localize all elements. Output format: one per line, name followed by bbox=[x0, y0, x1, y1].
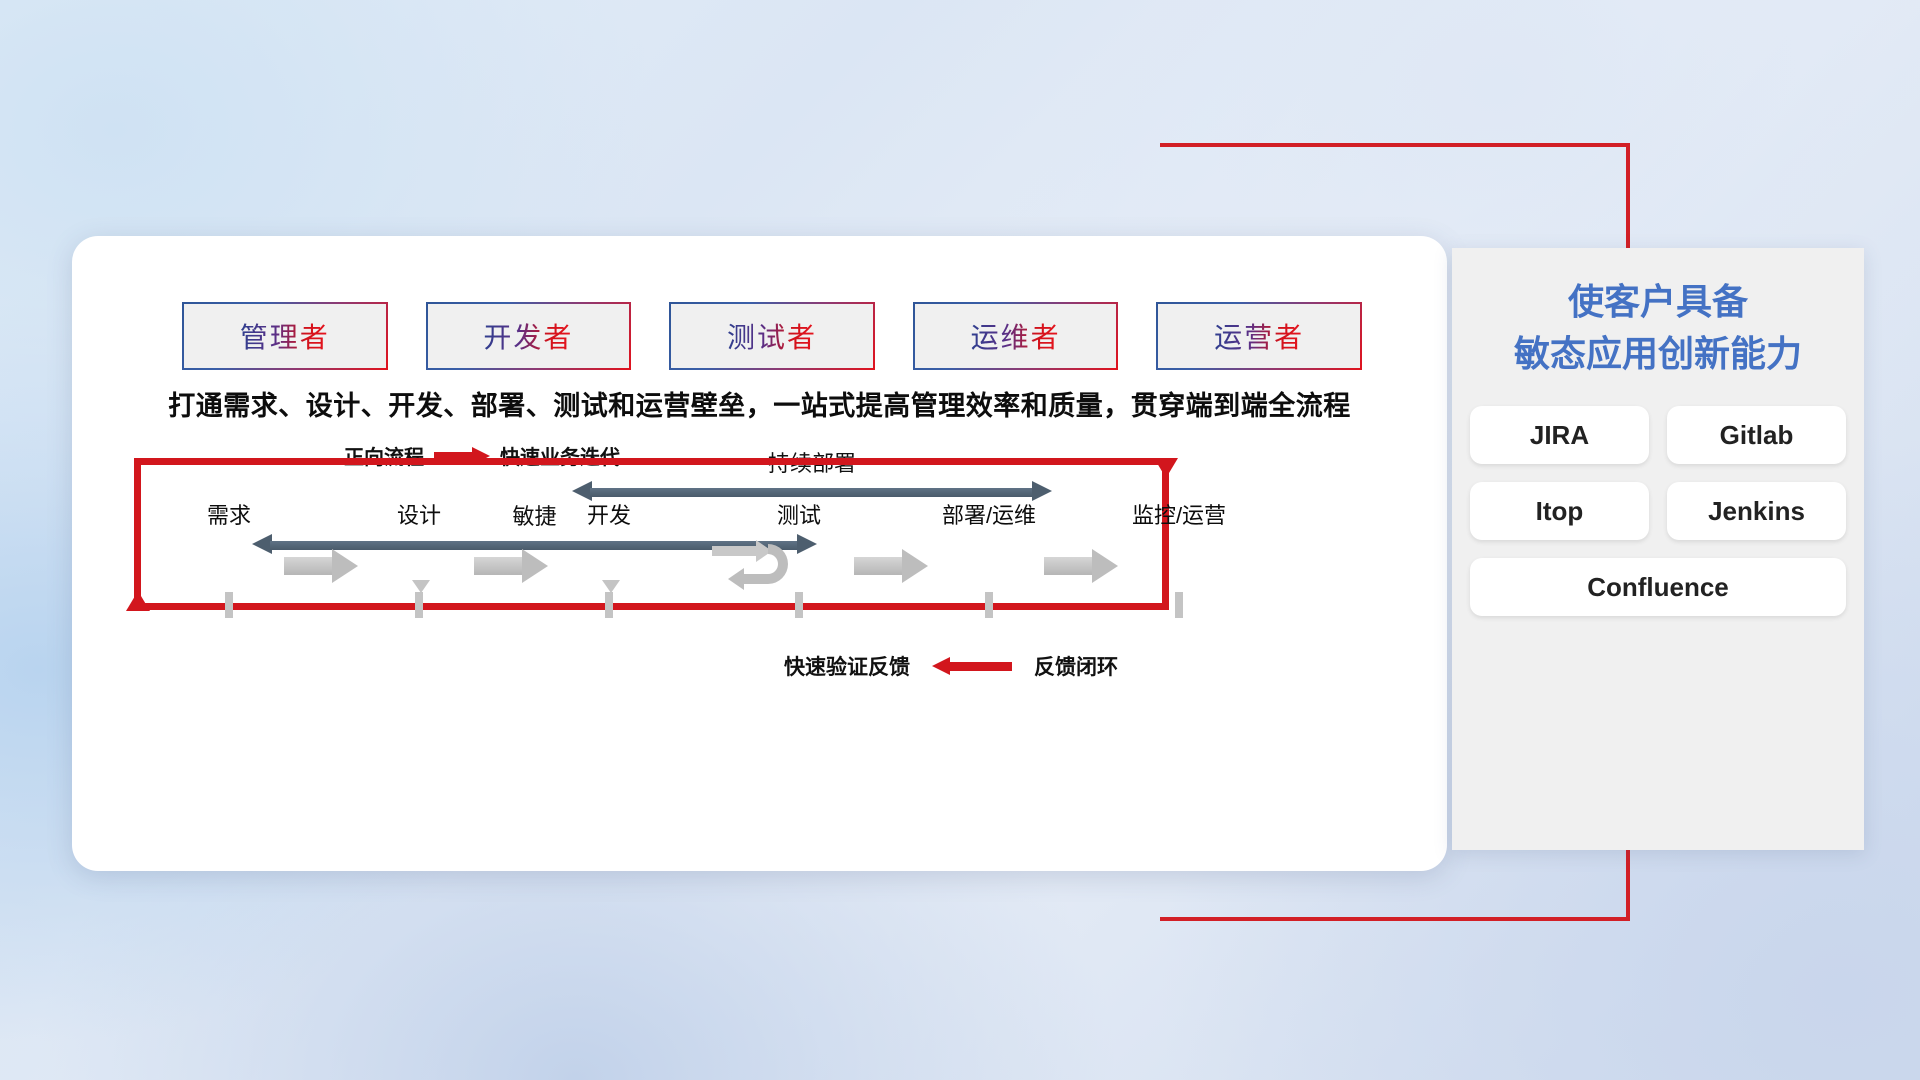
arrow-body bbox=[284, 557, 334, 575]
arrow-head bbox=[902, 549, 928, 583]
role-box-ops[interactable]: 运维者 bbox=[913, 302, 1119, 370]
role-box-manager[interactable]: 管理者 bbox=[182, 302, 388, 370]
role-label: 测试者 bbox=[727, 316, 817, 356]
panel-title-line1: 使客户具备 bbox=[1452, 276, 1864, 328]
stem-connector bbox=[985, 592, 993, 618]
pipeline-node-label: 开发 bbox=[587, 498, 631, 530]
loop-back-arrow-icon bbox=[710, 538, 806, 596]
tool-tag-jira[interactable]: JIRA bbox=[1470, 406, 1649, 464]
arrow-head bbox=[1092, 549, 1118, 583]
arrow-right-gray-icon bbox=[474, 549, 548, 583]
pipeline-node-label: 设计 bbox=[397, 498, 441, 530]
tool-tag-gitlab[interactable]: Gitlab bbox=[1667, 406, 1846, 464]
red-loop-arrowhead-down-icon bbox=[1154, 458, 1178, 478]
pipeline-node-label: 需求 bbox=[207, 498, 251, 530]
role-label: 开发者 bbox=[483, 316, 573, 356]
role-box-tester[interactable]: 测试者 bbox=[669, 302, 875, 370]
role-box-operations[interactable]: 运营者 bbox=[1156, 302, 1362, 370]
arrow-body bbox=[854, 557, 904, 575]
stem-arrowhead-icon bbox=[602, 580, 620, 593]
pipeline-node-label: 测试 bbox=[777, 498, 821, 530]
tool-tag-list: JIRA Gitlab Itop Jenkins Confluence bbox=[1470, 406, 1846, 616]
value-panel: 使客户具备 敏态应用创新能力 JIRA Gitlab Itop Jenkins … bbox=[1452, 248, 1864, 850]
arrow-right-gray-icon bbox=[1044, 549, 1118, 583]
pipeline-node-label: 监控/运营 bbox=[1132, 498, 1226, 530]
arrow-left-red-icon bbox=[932, 657, 1012, 675]
role-label: 管理者 bbox=[240, 316, 330, 356]
main-diagram-card: 管理者 开发者 测试者 运维者 运营者 打通需求、设计、开发、部署、测试和运营壁… bbox=[72, 236, 1447, 871]
stem-arrowhead-icon bbox=[412, 580, 430, 593]
tool-tag-jenkins[interactable]: Jenkins bbox=[1667, 482, 1846, 540]
panel-title-line2: 敏态应用创新能力 bbox=[1452, 328, 1864, 380]
panel-title: 使客户具备 敏态应用创新能力 bbox=[1452, 248, 1864, 380]
pipeline-node-label: 部署/运维 bbox=[942, 498, 1036, 530]
feedback-legend: 快速验证反馈 反馈闭环 bbox=[784, 651, 1118, 681]
fast-validation-label: 快速验证反馈 bbox=[784, 651, 910, 681]
pipeline-row: 需求 设计 开发 测试 部署/运维 监控/运营 bbox=[132, 502, 1232, 612]
arrow-right-gray-icon bbox=[854, 549, 928, 583]
arrow-body bbox=[474, 557, 524, 575]
headline-text: 打通需求、设计、开发、部署、测试和运营壁垒，一站式提高管理效率和质量，贯穿端到端… bbox=[72, 384, 1447, 423]
role-label: 运营者 bbox=[1214, 316, 1304, 356]
role-box-developer[interactable]: 开发者 bbox=[426, 302, 632, 370]
stem-connector bbox=[225, 592, 233, 618]
arrow-head bbox=[332, 549, 358, 583]
role-box-row: 管理者 开发者 测试者 运维者 运营者 bbox=[182, 302, 1362, 370]
arrow-body bbox=[1044, 557, 1094, 575]
tool-tag-itop[interactable]: Itop bbox=[1470, 482, 1649, 540]
arrow-right-gray-icon bbox=[284, 549, 358, 583]
stem-connector bbox=[1175, 592, 1183, 618]
arrow-head bbox=[522, 549, 548, 583]
stem-connector bbox=[415, 592, 423, 618]
role-label: 运维者 bbox=[971, 316, 1061, 356]
tool-tag-confluence[interactable]: Confluence bbox=[1470, 558, 1846, 616]
stem-connector bbox=[605, 592, 613, 618]
feedback-loop-label: 反馈闭环 bbox=[1034, 651, 1118, 681]
